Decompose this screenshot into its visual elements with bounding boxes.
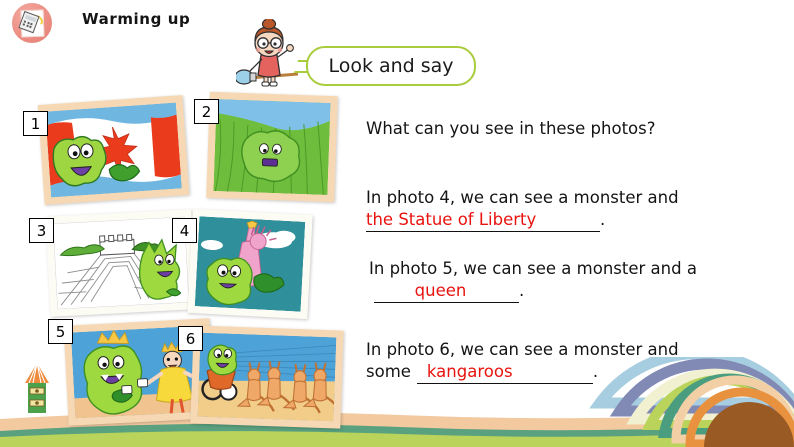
photo-1[interactable] <box>38 95 190 205</box>
photo-2[interactable] <box>206 92 338 202</box>
speech-bubble-text: Look and say <box>328 55 453 77</box>
photo-number-2: 2 <box>194 99 219 124</box>
photo-number-3: 3 <box>29 218 54 243</box>
photo-number-6: 6 <box>178 326 203 351</box>
page-title: Warming up <box>82 10 190 28</box>
photo-number-5: 5 <box>48 319 73 344</box>
answer-1-lead: In photo 4, we can see a monster and <box>366 188 679 209</box>
girl-with-broom <box>236 19 300 91</box>
answer-2-period: . <box>519 281 524 300</box>
answer-2-blank[interactable]: queen <box>374 281 519 303</box>
answer-1-blank[interactable]: the Statue of Liberty <box>366 210 600 232</box>
photo-4[interactable] <box>187 209 312 319</box>
answer-2-lead: In photo 5, we can see a monster and a <box>369 259 697 280</box>
speech-bubble: Look and say <box>306 46 476 86</box>
photo-number-1: 1 <box>23 111 48 136</box>
question-prompt: What can you see in these photos? <box>366 119 656 140</box>
answer-1-period: . <box>600 210 605 229</box>
answer-2-row: queen. <box>374 281 524 303</box>
answer-3-row: somekangaroos. <box>366 362 598 384</box>
answer-1-row: the Statue of Liberty. <box>366 210 605 232</box>
notepad-calculator-icon <box>12 3 52 43</box>
slide-canvas: Warming up Loo <box>0 0 794 447</box>
answer-3-period: . <box>593 362 598 383</box>
green-tower-icon <box>24 363 50 413</box>
photo-6[interactable] <box>190 325 343 428</box>
answer-3-prefix: some <box>366 362 417 383</box>
answer-3-lead: In photo 6, we can see a monster and <box>366 340 679 361</box>
answer-3-blank[interactable]: kangaroos <box>417 362 593 384</box>
photo-number-4: 4 <box>172 218 197 243</box>
